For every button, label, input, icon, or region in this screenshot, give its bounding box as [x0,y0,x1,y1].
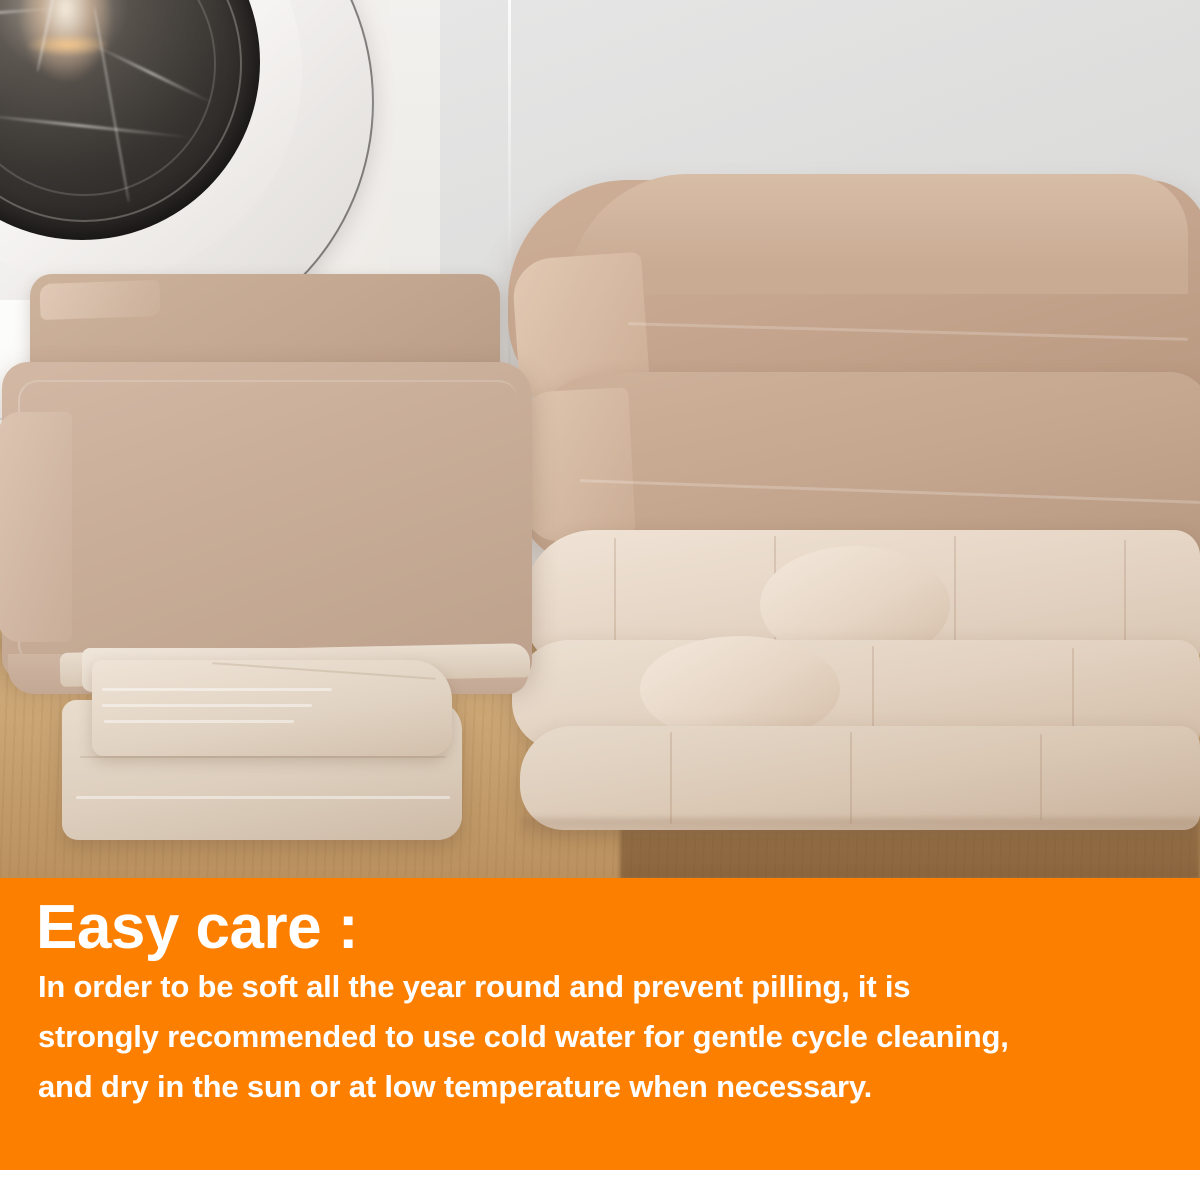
sheet-crease [80,756,446,758]
product-infographic: Easy care : In order to be soft all the … [0,0,1200,1200]
sheet-fold-line [104,720,294,723]
pillow-top-surface [568,174,1188,294]
comforter-ground-shadow [520,818,1200,844]
sheet-fold-line [102,704,312,707]
quilt-seam [850,732,852,824]
banner-line: and dry in the sun or at low temperature… [38,1062,1166,1112]
folded-sheet-top [92,660,452,756]
pillowcase-flap [0,412,72,642]
pillow-front-left [2,362,532,680]
pillowcase-flap [518,387,636,543]
footer-whitespace [0,1170,1200,1200]
sheet-fold-line [76,796,450,799]
sheet-crease [212,662,436,680]
banner-title: Easy care : [36,896,1166,960]
drum-warm-reflection [26,34,110,56]
quilt-seam [670,732,672,824]
banner-line: strongly recommended to use cold water f… [38,1012,1166,1062]
pillowcase-flap [39,280,160,320]
banner-body: In order to be soft all the year round a… [34,962,1166,1112]
banner-line: In order to be soft all the year round a… [38,962,1166,1012]
pillow-hem [18,380,518,664]
pillow-seam [580,479,1200,504]
pillow-seam [628,322,1188,341]
easy-care-banner: Easy care : In order to be soft all the … [0,878,1200,1170]
sheet-fold-line [102,688,332,691]
product-photo [0,0,1200,878]
comforter-fold-bottom [520,726,1200,830]
quilt-seam [1040,734,1042,820]
quilt-seam [614,538,616,656]
